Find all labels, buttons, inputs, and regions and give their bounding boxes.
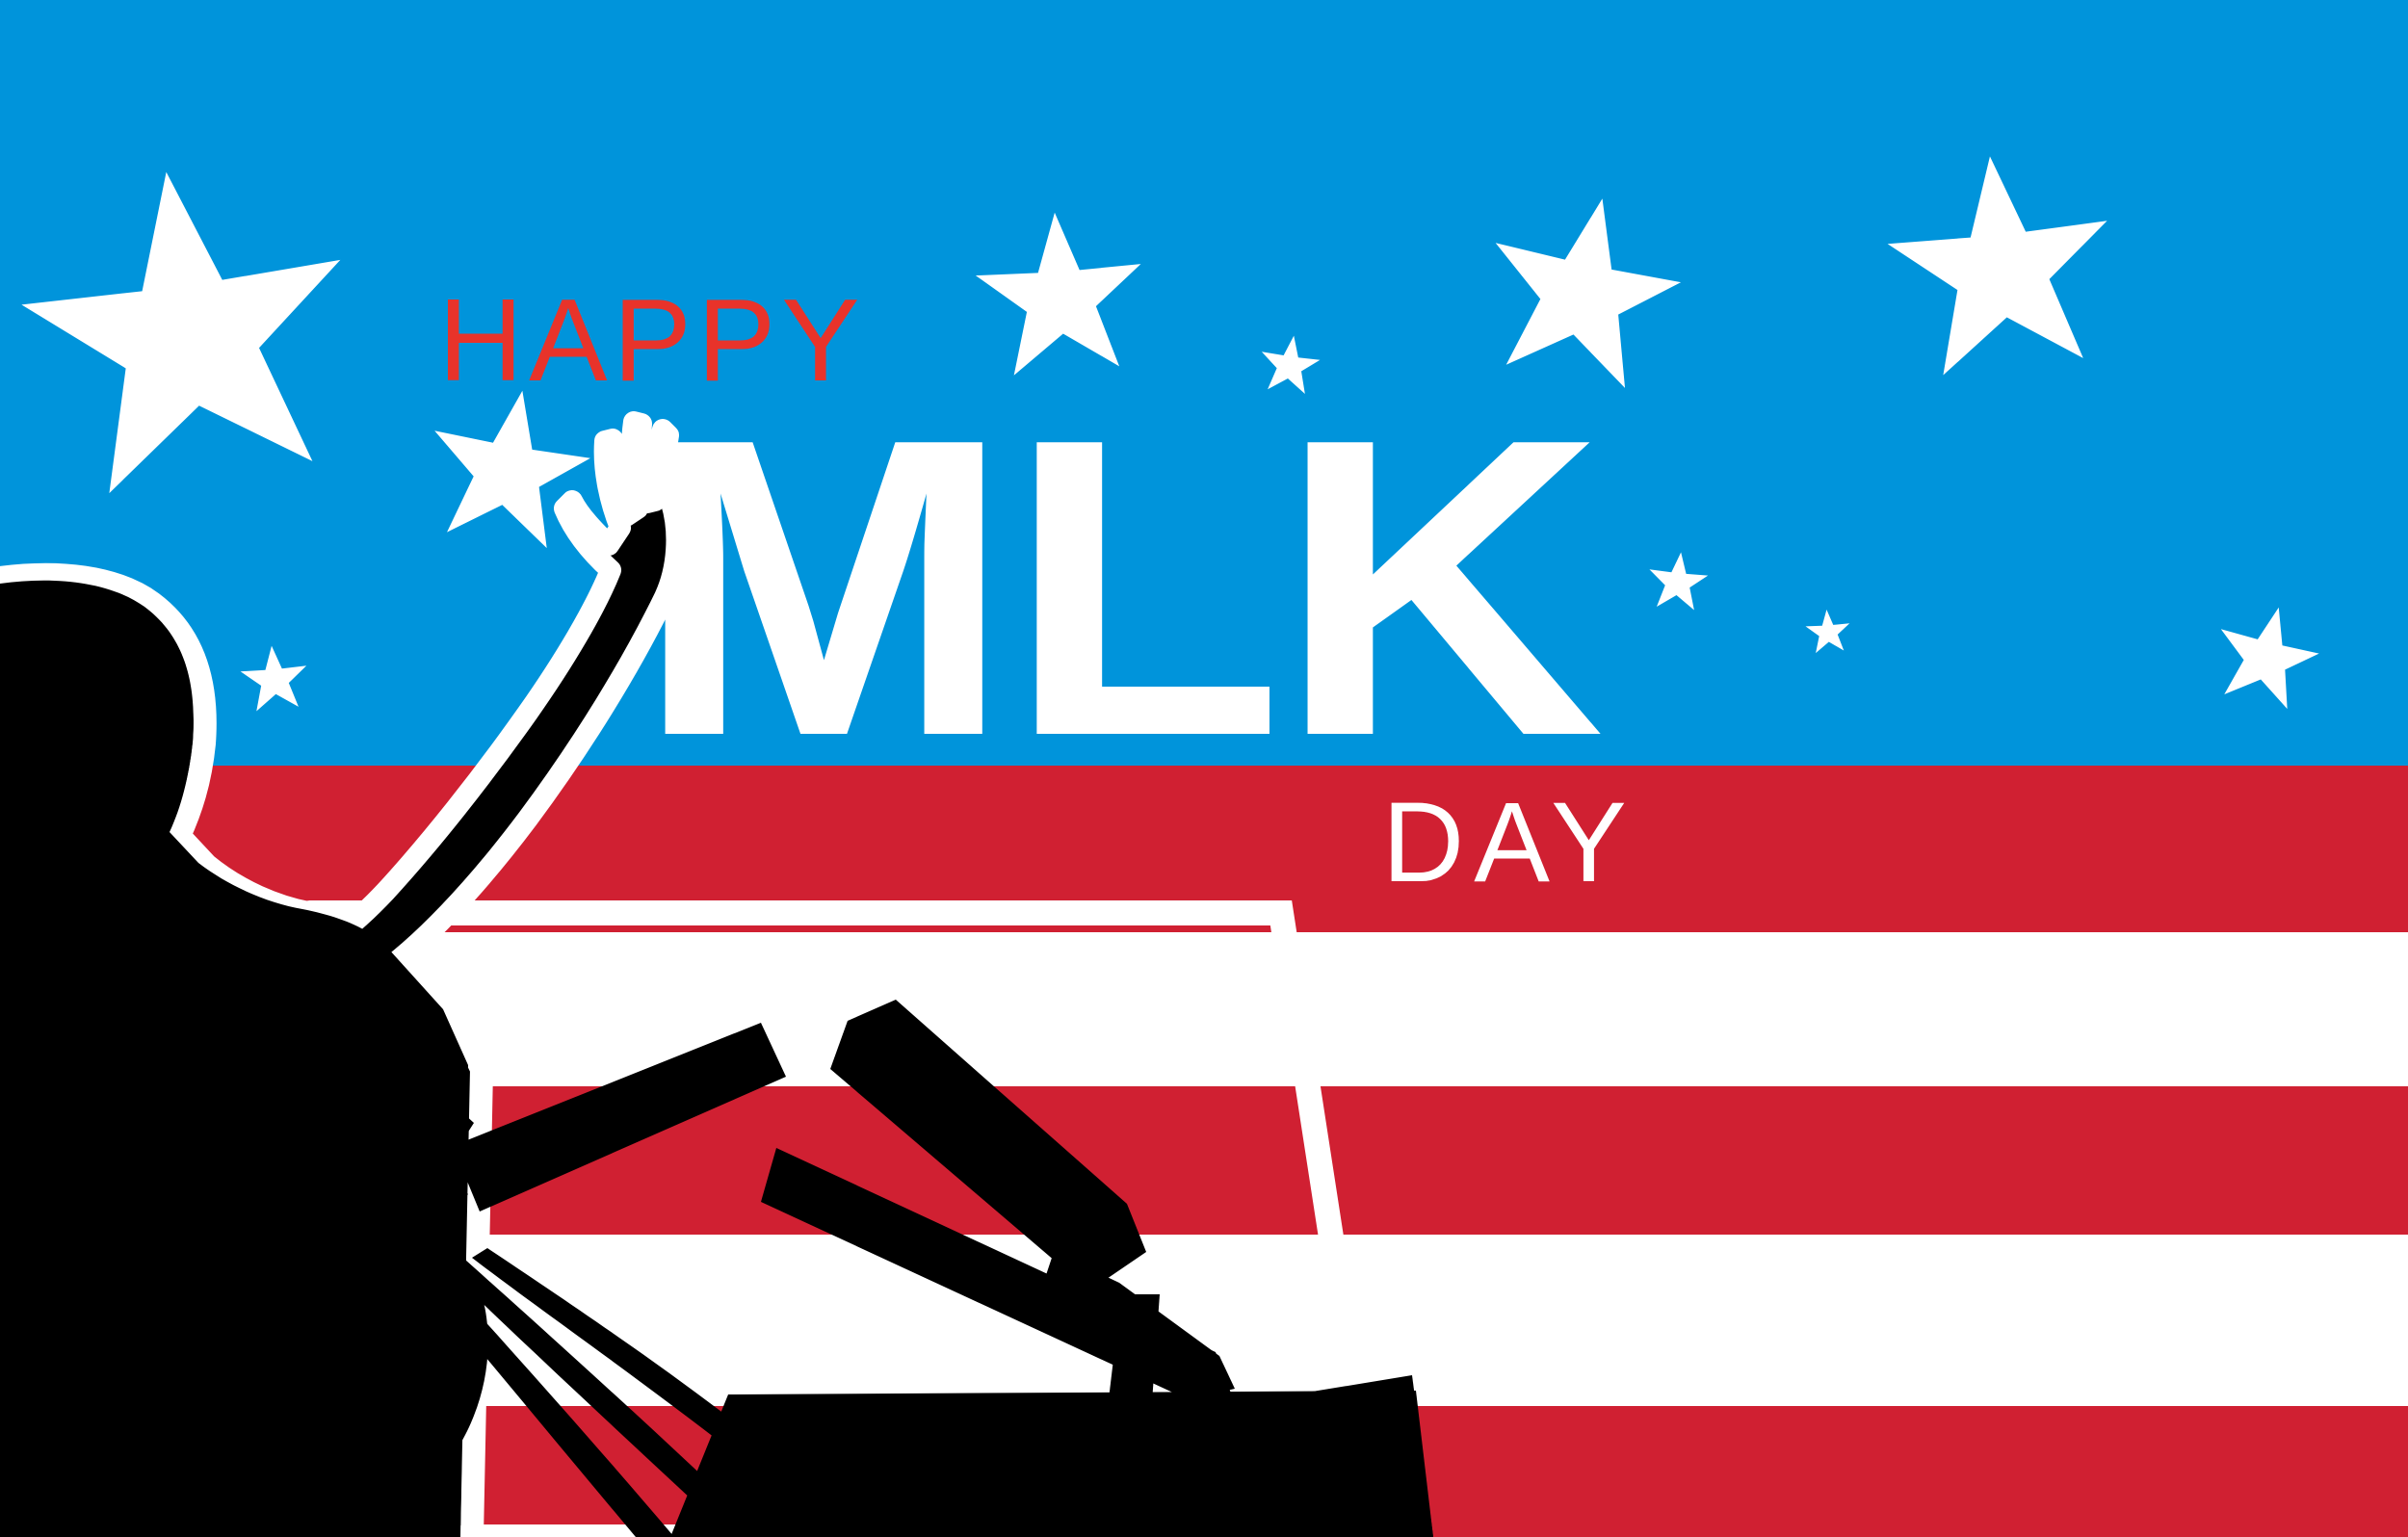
mlk-day-poster: HAPPY MLK DAY (0, 0, 2408, 1537)
headline-mlk: MLK (635, 351, 1603, 824)
poster-canvas: HAPPY MLK DAY (0, 0, 2408, 1537)
headline-day: DAY (1382, 779, 1636, 906)
